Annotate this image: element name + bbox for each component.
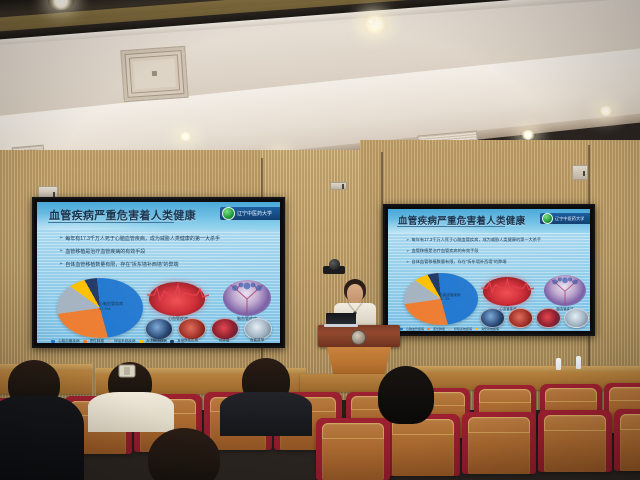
legend-label: 消化系统疾病 (146, 339, 168, 343)
institution-logo-text: 辽宁中医药大学 (237, 210, 272, 217)
bullet-marker-icon: ➢ (406, 237, 410, 242)
bullet-marker-icon: ➢ (59, 248, 63, 254)
legend-label: 消化系统疾病 (481, 327, 499, 331)
seat[interactable] (538, 410, 612, 472)
medical-image-thumb (211, 318, 239, 340)
ptz-camera-icon (323, 258, 345, 274)
bullet-marker-icon: ➢ (59, 235, 63, 241)
legend-swatch (139, 340, 143, 343)
institution-logo: 辽宁中医药大学 (540, 213, 590, 224)
seat-trim (479, 389, 531, 403)
legend-label: 心脑血管疾病 (58, 339, 80, 343)
pie-slice-label: 心脑血管疾病47.3% (99, 301, 123, 311)
image-caption: 血管狭窄 (241, 338, 273, 343)
legend-swatch (400, 328, 403, 331)
slide-title: 血管疾病严重危害着人类健康 (49, 207, 196, 223)
bullet-text: 血管移植是治疗血管疾病的有效手段 (412, 248, 479, 254)
ecg-waveform-icon (481, 277, 534, 294)
institution-logo-mark-icon (542, 213, 553, 224)
institution-logo-mark-icon (222, 207, 235, 220)
bullet-marker-icon: ➢ (406, 259, 410, 264)
podium-emblem-icon (351, 330, 366, 345)
seat[interactable] (316, 418, 390, 480)
display-right[interactable]: 血管疾病严重危害着人类健康 辽宁中医药大学 ➢ 每年有17.3千万人死于心脑血管… (383, 204, 595, 336)
legend-swatch (107, 340, 111, 343)
water-bottle (556, 358, 561, 370)
slide-bullet: ➢ 每年有17.3千万人死于心脑血管疾病，成为威胁人类健康的第一大杀手 (59, 235, 220, 242)
legend-swatch (51, 340, 55, 343)
bullet-text: 每年有17.3千万人死于心脑血管疾病，成为威胁人类健康的第一大杀手 (412, 237, 542, 243)
medical-image-thumb (178, 318, 206, 340)
legend-swatch (448, 328, 451, 331)
seat-trim (322, 423, 384, 439)
pie-slice-label: 心脑血管疾病47.3% (440, 293, 460, 301)
laptop-keyboard (324, 324, 358, 327)
institution-logo-text: 辽宁中医药大学 (555, 216, 584, 222)
bullet-text: 血管移植是治疗血管疾病的有效手段 (65, 248, 145, 255)
slide-title: 血管疾病严重危害着人类健康 (398, 213, 525, 227)
chart-legend: 心脑血管疾病 恶性肿瘤 呼吸系统疾病 消化系统疾病 (400, 327, 499, 331)
medical-image-thumb (508, 308, 533, 328)
chart-legend: 心脑血管疾病 恶性肿瘤 呼吸系统疾病 消化系统疾病 其他 (51, 339, 184, 343)
wall-speaker-icon (572, 165, 588, 180)
slide-bullet: ➢ 血管移植是治疗血管疾病的有效手段 (59, 248, 145, 255)
audience-shoulders (220, 392, 312, 436)
legend-label: 其他 (177, 339, 184, 343)
bullet-text: 自体血管移植数量有限，存在“拆东墙补西墙”的弊端 (65, 261, 178, 268)
legend-swatch (170, 340, 174, 343)
legend-label: 恶性肿瘤 (90, 339, 104, 343)
ecg-waveform-icon (147, 282, 209, 302)
audience-head (378, 366, 434, 424)
audience-shoulders (88, 392, 174, 432)
slide-title-underline (48, 222, 174, 223)
bullet-text: 自体血管移植数量有限，存在“拆东墙补西墙”的弊端 (412, 259, 507, 265)
ceiling-light-icon (362, 14, 388, 34)
seat[interactable] (614, 409, 640, 471)
ceiling-light-icon (178, 132, 193, 141)
slide-bullet: ➢ 血管移植是治疗血管疾病的有效手段 (406, 248, 479, 254)
legend-label: 呼吸系统疾病 (114, 339, 136, 343)
medical-image-thumb (480, 308, 505, 328)
seat-trim (544, 415, 606, 431)
bullet-marker-icon: ➢ (59, 261, 63, 267)
seat-trim (545, 388, 597, 402)
slide-canvas-right: 血管疾病严重危害着人类健康 辽宁中医药大学 ➢ 每年有17.3千万人死于心脑血管… (388, 209, 590, 331)
seat-trim (609, 387, 640, 401)
vessel-tree-icon (546, 276, 584, 305)
audience-shoulders (0, 396, 84, 480)
bullet-marker-icon: ➢ (406, 248, 410, 253)
legend-swatch (475, 328, 478, 331)
vessel-tree-icon (225, 281, 269, 315)
institution-logo: 辽宁中医药大学 (220, 207, 280, 220)
hvac-diffuser-icon (120, 46, 188, 102)
front-desk-top (410, 366, 640, 372)
legend-label: 恶性肿瘤 (433, 327, 445, 331)
hair-clip-icon (118, 364, 136, 378)
auditorium-scene: 血管疾病严重危害着人类健康 辽宁中医药大学 ➢ 每年有17.3千万人死于心脑血管… (0, 0, 640, 480)
slide-bullet: ➢ 自体血管移植数量有限，存在“拆东墙补西墙”的弊端 (406, 259, 506, 265)
image-caption: 动脉瘤 (208, 338, 240, 343)
seat[interactable] (462, 412, 536, 474)
medical-image-thumb (536, 308, 561, 328)
legend-label: 呼吸系统疾病 (454, 327, 472, 331)
seat-trim (468, 417, 530, 433)
medical-image-thumb (145, 318, 173, 340)
display-left[interactable]: 血管疾病严重危害着人类健康 辽宁中医药大学 ➢ 每年有17.3千万人死于心脑血管… (32, 197, 285, 348)
legend-swatch (427, 328, 430, 331)
wall-speaker-icon (330, 182, 347, 190)
bullet-text: 每年有17.3千万人死于心脑血管疾病，成为威胁人类健康的第一大杀手 (65, 235, 220, 242)
legend-label: 心脑血管疾病 (406, 327, 424, 331)
medical-image-thumb (564, 308, 589, 328)
ceiling-light-icon (598, 106, 614, 116)
slide-canvas-left: 血管疾病严重危害着人类健康 辽宁中医药大学 ➢ 每年有17.3千万人死于心脑血管… (37, 202, 280, 343)
ceiling-light-icon (366, 18, 376, 25)
slide-title-underline (397, 226, 505, 227)
slide-bullet: ➢ 每年有17.3千万人死于心脑血管疾病，成为威胁人类健康的第一大杀手 (406, 237, 541, 243)
legend-swatch (83, 340, 87, 343)
slide-bullet: ➢ 自体血管移植数量有限，存在“拆东墙补西墙”的弊端 (59, 261, 179, 268)
seat-trim (620, 414, 640, 430)
medical-image-thumb (244, 318, 272, 340)
water-bottle (576, 356, 581, 369)
ptz-camera-lens (329, 259, 340, 270)
